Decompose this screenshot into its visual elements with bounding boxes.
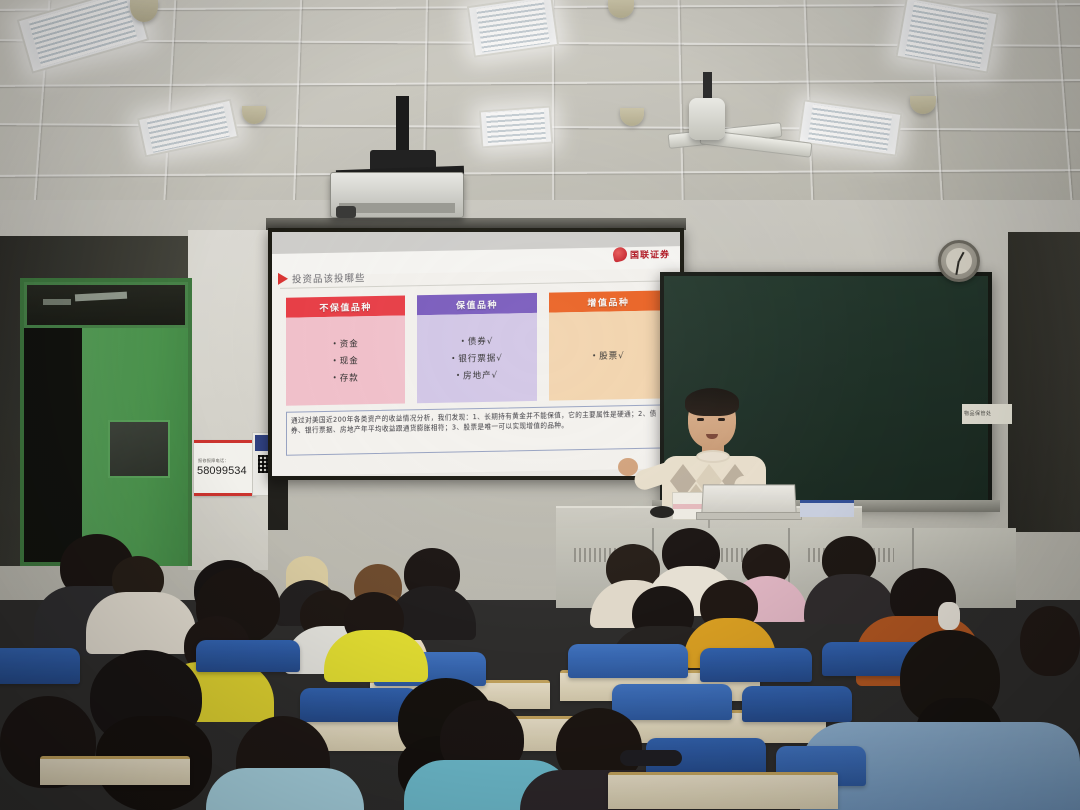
column-body: 股票√ (549, 310, 668, 400)
column-heading: 不保值品种 (286, 295, 405, 317)
wall-clock-icon (938, 240, 980, 282)
ceiling-tile-line (0, 79, 1080, 87)
slide-title: 投资品该投哪些 (292, 270, 366, 285)
ceiling-light (479, 106, 553, 149)
door-window (108, 420, 170, 478)
presenter-eye (697, 418, 704, 421)
ceiling-tile-line (1055, 0, 1075, 231)
audience-area (0, 520, 1080, 810)
seat[interactable] (196, 640, 300, 672)
right-wall-sign: 物品保管处 (962, 404, 1012, 424)
comparison-columns: 不保值品种 资金 现金 存款 保值品种 债券√ 银行票据√ 房地产√ (286, 290, 668, 405)
ceiling-tile-line (678, 0, 685, 232)
column-body: 资金 现金 存款 (286, 315, 405, 405)
ceiling-tile-line (0, 169, 1080, 177)
glass-glint (43, 299, 71, 305)
ceiling-speaker (608, 0, 634, 18)
ceiling (0, 0, 1080, 232)
column-item: 现金 (292, 354, 399, 368)
seat[interactable] (700, 648, 812, 682)
ceiling-fan-icon (689, 98, 725, 140)
column-non-preserving: 不保值品种 资金 现金 存款 (286, 295, 405, 405)
projector-mount-pole (396, 96, 409, 156)
ceiling-tile-line (292, 0, 302, 232)
laptop-base (696, 512, 802, 520)
column-item: 银行票据√ (423, 351, 530, 365)
student-body (86, 592, 196, 654)
triangle-bullet-icon (278, 273, 288, 285)
seat[interactable] (568, 644, 688, 678)
screen-surface: 投资品该投哪些 国联证券 不保值品种 资金 现金 存款 (272, 232, 680, 476)
ceiling-speaker (242, 106, 266, 124)
column-heading: 增值品种 (549, 290, 668, 312)
desk (40, 756, 190, 785)
brand-name: 国联证券 (630, 247, 670, 261)
ceiling-light (895, 0, 998, 74)
column-body: 债券√ 银行票据√ 房地产√ (417, 313, 536, 403)
column-appreciating: 增值品种 股票√ (549, 290, 668, 400)
column-item: 债券√ (423, 334, 530, 348)
face-mask-icon (938, 602, 960, 630)
flame-icon (612, 246, 629, 263)
ceiling-light (797, 99, 902, 156)
ceiling-light (17, 0, 150, 74)
student-body (804, 574, 896, 624)
slide-title-row: 投资品该投哪些 (278, 270, 366, 286)
wall-sign-caption: 报修报障电话： (198, 458, 252, 464)
ceiling-light (137, 98, 239, 157)
student-body (324, 630, 428, 682)
lecture-hall-photo: 报修报障电话： 58099534 投资品该投哪些 国联证券 (0, 0, 1080, 810)
glass-glint (75, 292, 127, 302)
ceiling-light (467, 0, 559, 58)
seat[interactable] (742, 686, 852, 722)
column-heading: 保值品种 (417, 293, 536, 315)
door-transom-window (24, 282, 188, 328)
student-head (1020, 606, 1080, 676)
ceiling-speaker (620, 108, 644, 126)
projector-lens (336, 206, 356, 218)
presenter-eye (718, 418, 725, 421)
column-item: 资金 (292, 337, 399, 351)
right-wall-sign-text: 物品保管处 (964, 410, 992, 417)
projection-screen: 投资品该投哪些 国联证券 不保值品种 资金 现金 存款 (268, 228, 684, 480)
stacked-books (800, 500, 854, 517)
column-item: 股票√ (555, 349, 662, 363)
slide-note-box: 通过对美国近200年各类资产的收益情况分析，我们发现：1、长期持有黄金并不能保值… (286, 404, 668, 455)
column-item: 房地产√ (423, 368, 530, 382)
right-dark-wall (1008, 232, 1080, 532)
student-body (206, 768, 364, 810)
wall-sign-phone: 报修报障电话： 58099534 (194, 440, 256, 496)
seat[interactable] (612, 684, 732, 720)
umbrella (620, 750, 682, 766)
box-stripe (673, 504, 703, 509)
column-value-preserving: 保值品种 债券√ 银行票据√ 房地产√ (417, 293, 536, 403)
brand-logo: 国联证券 (613, 246, 670, 261)
presenter-hair (685, 388, 739, 416)
presenter-left-hand (618, 458, 638, 476)
slide-note-text: 通过对美国近200年各类资产的收益情况分析，我们发现：1、长期持有黄金并不能保值… (291, 408, 663, 436)
mouse-icon[interactable] (650, 506, 674, 518)
presenter-collar (696, 450, 730, 463)
column-item: 存款 (292, 371, 399, 385)
ceiling-speaker (910, 96, 936, 114)
wall-sign-number: 58099534 (197, 465, 253, 477)
seat[interactable] (0, 648, 80, 684)
desk (608, 772, 838, 809)
left-white-wall (188, 230, 268, 570)
slide-content: 投资品该投哪些 国联证券 不保值品种 资金 现金 存款 (272, 262, 680, 476)
